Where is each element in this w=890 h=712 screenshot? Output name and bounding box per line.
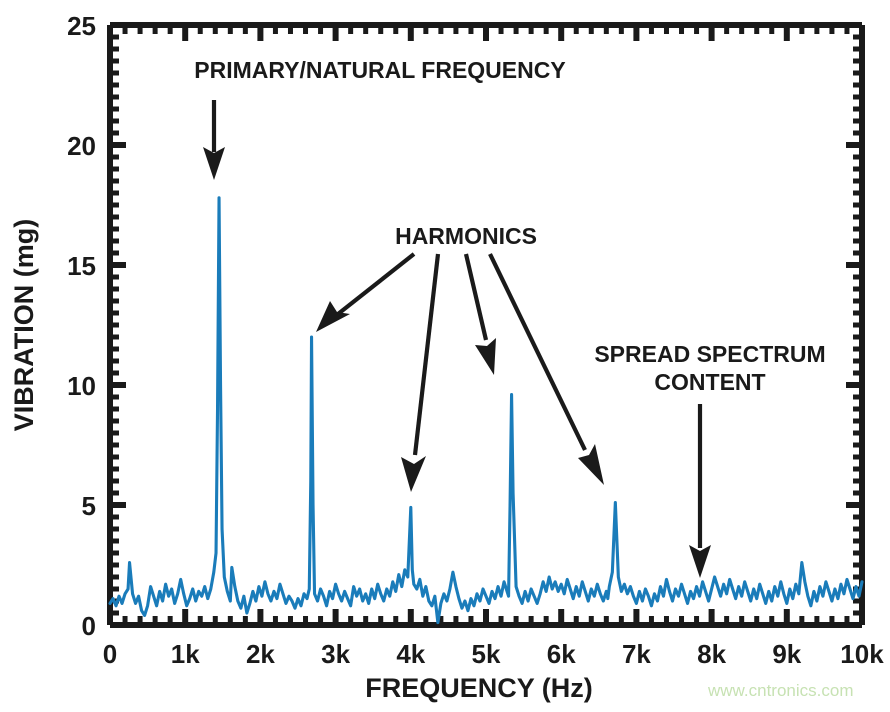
y-tick-label: 0 [82, 611, 96, 641]
x-tick-label: 5k [472, 639, 501, 669]
x-tick-label: 3k [321, 639, 350, 669]
annotation-primary-label: PRIMARY/NATURAL FREQUENCY [194, 57, 565, 83]
x-tick-label: 7k [622, 639, 651, 669]
x-tick-label: 2k [246, 639, 275, 669]
y-axis-title: VIBRATION (mg) [9, 219, 39, 431]
watermark: www.cntronics.com [707, 681, 853, 700]
y-tick-label: 15 [67, 251, 96, 281]
x-tick-label: 8k [697, 639, 726, 669]
x-tick-label: 9k [772, 639, 801, 669]
y-tick-label: 25 [67, 11, 96, 41]
x-tick-label: 6k [547, 639, 576, 669]
x-tick-label: 10k [840, 639, 884, 669]
y-tick-label: 10 [67, 371, 96, 401]
x-tick-label: 4k [396, 639, 425, 669]
annotation-spread-label-line2: CONTENT [654, 369, 765, 395]
annotation-harmonics-label: HARMONICS [395, 223, 537, 249]
x-tick-label: 0 [103, 639, 117, 669]
vibration-spectrum-figure: 01k2k3k4k5k6k7k8k9k10k 0510152025 FREQUE… [0, 0, 890, 712]
y-tick-label: 5 [82, 491, 96, 521]
y-tick-label: 20 [67, 131, 96, 161]
x-axis-title: FREQUENCY (Hz) [365, 673, 593, 703]
x-tick-label: 1k [171, 639, 200, 669]
annotation-spread-label-line1: SPREAD SPECTRUM [594, 341, 825, 367]
